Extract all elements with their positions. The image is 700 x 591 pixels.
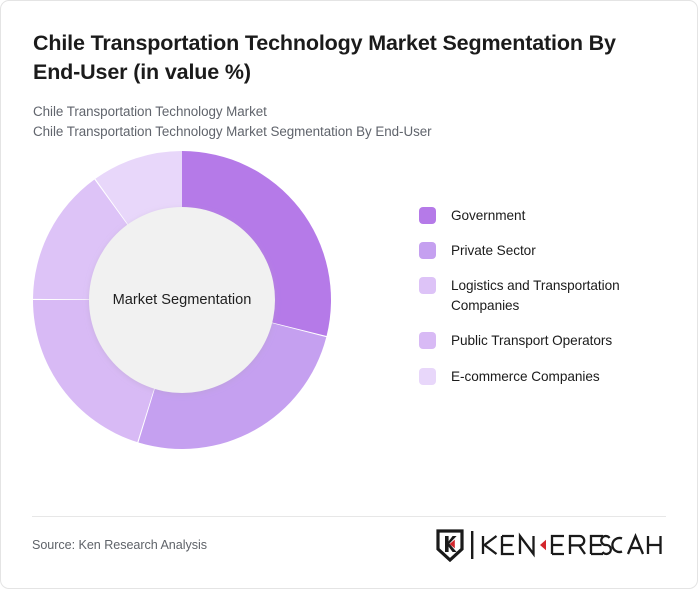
chart-card: Chile Transportation Technology Market S… [0, 0, 698, 589]
legend-swatch-icon [419, 277, 436, 294]
legend-item[interactable]: E-commerce Companies [419, 367, 669, 386]
legend-item[interactable]: Government [419, 206, 669, 225]
chart-legend: GovernmentPrivate SectorLogistics and Tr… [419, 206, 669, 387]
legend-swatch-icon [419, 242, 436, 259]
legend-item-label: E-commerce Companies [451, 367, 600, 386]
legend-item-label: Logistics and Transportation Companies [451, 276, 669, 315]
legend-item-label: Private Sector [451, 241, 536, 260]
legend-item[interactable]: Logistics and Transportation Companies [419, 276, 669, 315]
chart-header: Chile Transportation Technology Market S… [1, 1, 697, 142]
donut-svg [32, 150, 332, 450]
legend-swatch-icon [419, 332, 436, 349]
legend-item-label: Government [451, 206, 525, 225]
legend-item[interactable]: Private Sector [419, 241, 669, 260]
donut-chart: Market Segmentation [32, 150, 332, 450]
chart-body: Market Segmentation GovernmentPrivate Se… [1, 150, 697, 480]
legend-item[interactable]: Public Transport Operators [419, 331, 669, 350]
breadcrumb: Chile Transportation Technology Market C… [33, 102, 665, 141]
legend-swatch-icon [419, 368, 436, 385]
chart-footer: Source: Ken Research Analysis [32, 526, 666, 564]
footer-divider [32, 516, 666, 517]
source-text: Source: Ken Research Analysis [32, 538, 207, 552]
donut-hole [89, 207, 275, 393]
ken-research-logo [434, 528, 666, 562]
legend-item-label: Public Transport Operators [451, 331, 612, 350]
legend-swatch-icon [419, 207, 436, 224]
subtitle-line-2: Chile Transportation Technology Market S… [33, 122, 665, 142]
page-title: Chile Transportation Technology Market S… [33, 29, 665, 86]
subtitle-line-1: Chile Transportation Technology Market [33, 102, 665, 122]
ken-research-logo-mark [434, 528, 666, 562]
